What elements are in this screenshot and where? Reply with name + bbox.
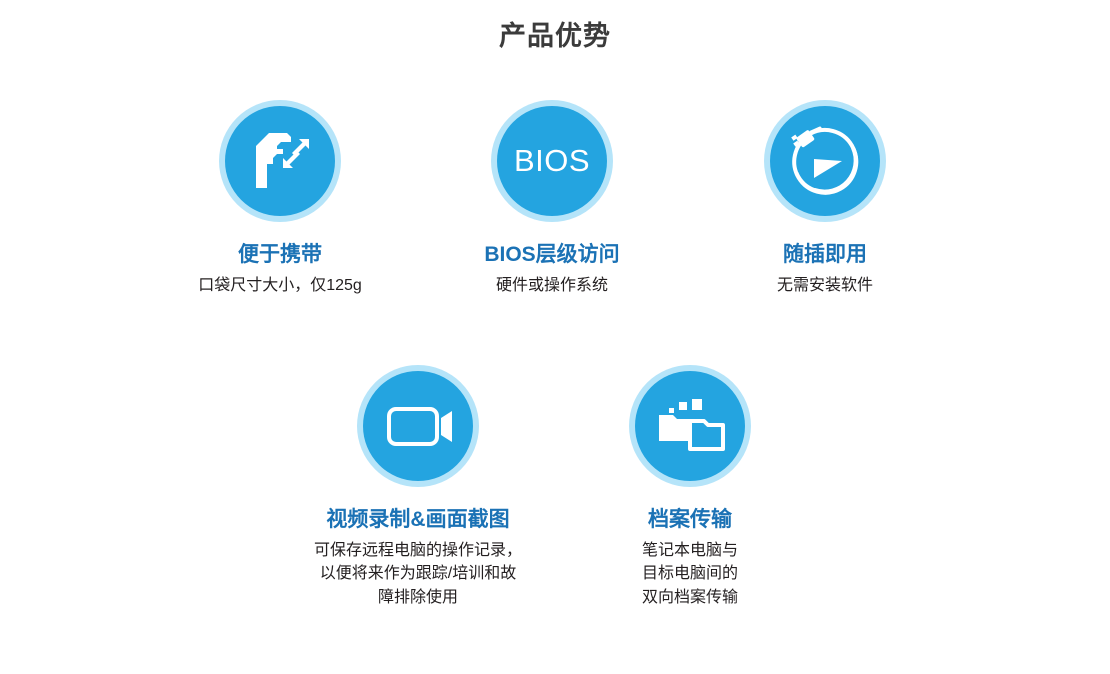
feature-title: 便于携带: [160, 242, 400, 267]
feature-description: 硬件或操作系统: [432, 274, 672, 297]
feature-card-plug-and-play: 随插即用 无需安装软件: [705, 100, 945, 297]
feature-title: BIOS层级访问: [432, 242, 672, 267]
video-camera-icon: [363, 371, 473, 481]
icon-wrapper: [357, 365, 479, 487]
feature-description: 无需安装软件: [705, 274, 945, 297]
feature-description: 笔记本电脑与 目标电脑间的 双向档案传输: [605, 539, 775, 609]
feature-card-portable: 便于携带 口袋尺寸大小，仅125g: [160, 100, 400, 297]
icon-wrapper: [764, 100, 886, 222]
feature-card-bios: BIOS BIOS层级访问 硬件或操作系统: [432, 100, 672, 297]
feature-title: 视频录制&画面截图: [298, 507, 538, 532]
feature-card-file-transfer: 档案传输 笔记本电脑与 目标电脑间的 双向档案传输: [605, 365, 775, 609]
feature-title: 随插即用: [705, 242, 945, 267]
hand-resize-icon: [225, 106, 335, 216]
folder-transfer-icon: [635, 371, 745, 481]
icon-wrapper: [219, 100, 341, 222]
page-title: 产品优势: [0, 14, 1110, 53]
feature-description: 口袋尺寸大小，仅125g: [160, 274, 400, 297]
bios-text-icon: BIOS: [497, 106, 607, 216]
feature-title: 档案传输: [605, 507, 775, 532]
icon-wrapper: BIOS: [491, 100, 613, 222]
feature-description: 可保存远程电脑的操作记录， 以便将来作为跟踪/培训和故 障排除使用: [298, 539, 538, 609]
bios-icon-label: BIOS: [497, 106, 607, 216]
icon-wrapper: [629, 365, 751, 487]
plug-play-icon: [770, 106, 880, 216]
feature-card-recording: 视频录制&画面截图 可保存远程电脑的操作记录， 以便将来作为跟踪/培训和故 障排…: [298, 365, 538, 609]
